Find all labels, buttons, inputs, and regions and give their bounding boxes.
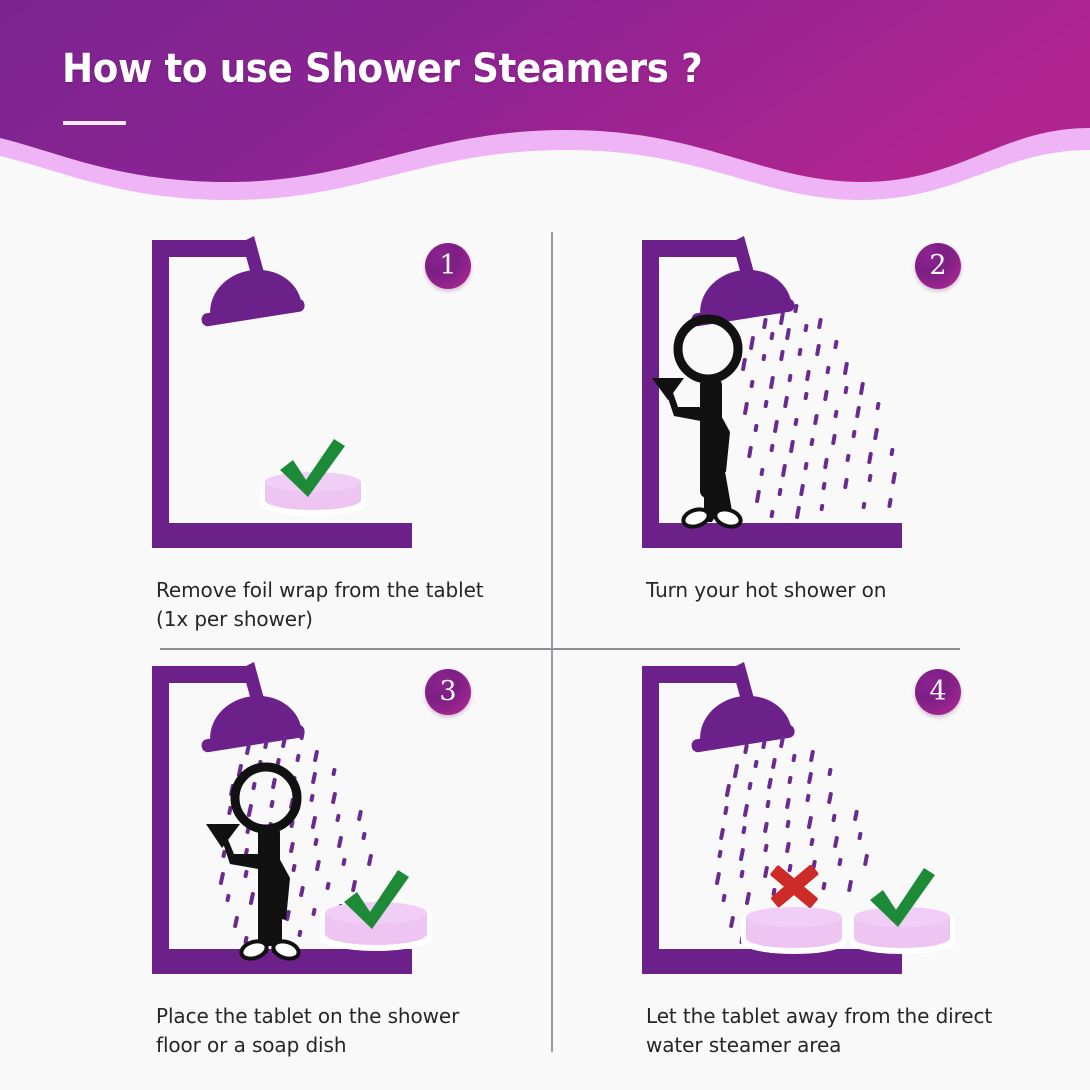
step-4-caption: Let the tablet away from the direct wate… — [646, 1002, 1046, 1060]
step-panel-1: 1 Remove foil wrap from the tablet (1x p… — [148, 232, 568, 652]
step-1-caption: Remove foil wrap from the tablet (1x per… — [156, 576, 556, 634]
step-badge-3: 3 — [425, 669, 471, 715]
step-badge-4: 4 — [915, 669, 961, 715]
header-wave-graphic — [0, 0, 1090, 200]
tablet-icon — [741, 907, 847, 954]
caption-line: (1x per shower) — [156, 605, 556, 634]
step-badge-2: 2 — [915, 243, 961, 289]
step-2-caption: Turn your hot shower on — [646, 576, 1046, 605]
infographic-page: How to use Shower Steamers ? — [0, 0, 1090, 1090]
caption-line: Place the tablet on the shower — [156, 1002, 556, 1031]
caption-line: Let the tablet away from the direct — [646, 1002, 1046, 1031]
step-3-caption: Place the tablet on the shower floor or … — [156, 1002, 556, 1060]
step-panel-4: 4 Let the tablet away from the direct wa… — [638, 658, 1058, 1078]
step-panel-3: 3 Place the tablet on the shower floor o… — [148, 658, 568, 1078]
header-banner: How to use Shower Steamers ? — [0, 0, 1090, 200]
caption-line: floor or a soap dish — [156, 1031, 556, 1060]
cross-icon — [770, 864, 820, 909]
page-title: How to use Shower Steamers ? — [62, 43, 899, 95]
step-panel-2: 2 Turn your hot shower on — [638, 232, 1058, 652]
caption-line: water steamer area — [646, 1031, 1046, 1060]
stick-figure-icon — [206, 767, 301, 962]
step-badge-1: 1 — [425, 243, 471, 289]
water-spray-icon — [741, 304, 897, 520]
caption-line: Turn your hot shower on — [646, 576, 1046, 605]
title-underline-rule — [63, 121, 126, 125]
stick-figure-icon — [652, 319, 743, 530]
caption-line: Remove foil wrap from the tablet — [156, 576, 556, 605]
